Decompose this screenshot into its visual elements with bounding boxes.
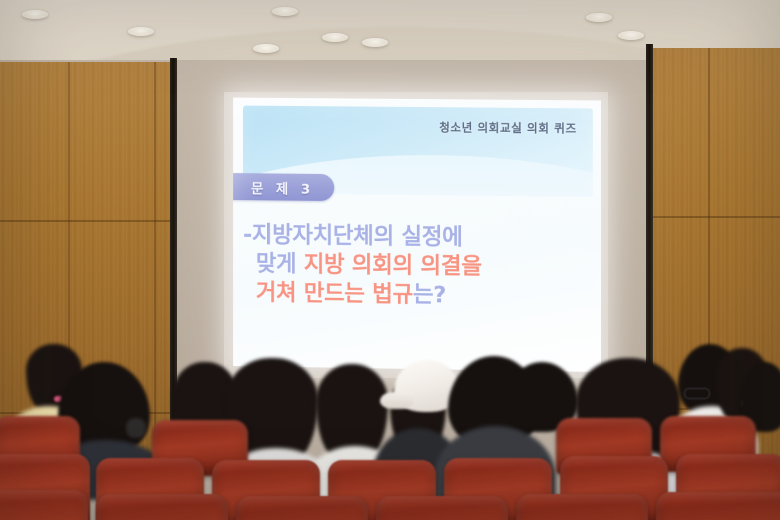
seat [516,494,648,520]
ceiling-downlight-3 [253,44,279,53]
audience-area [0,300,780,520]
ceiling-downlight-8 [618,31,644,40]
person-p6-hair [316,364,388,458]
seat [236,496,368,520]
question-token-1-1: -지방자치단체의 실정에 [243,222,463,251]
question-number-label: 문 제 3 [233,177,314,198]
seat [0,490,88,520]
ceiling-downlight-4 [272,7,298,16]
person-p10-glasses [684,388,710,399]
ceiling-downlight-7 [586,13,612,22]
question-token-2-2: 지방 의회의 의결을 [304,252,482,280]
question-line-1: -지방자치단체의 실정에 [243,221,587,254]
question-number-badge: 문 제 3 [233,173,334,201]
ceiling-downlight-6 [362,38,388,47]
question-line-2: 맞게 지방 의회의 의결을 [243,250,587,284]
ceiling-downlight-1 [22,10,48,19]
question-text-block: -지방자치단체의 실정에맞게 지방 의회의 의결을거쳐 만드는 법규는? [243,221,587,313]
ceiling-downlight-2 [128,27,154,36]
ceiling-downlight-5 [322,33,348,42]
slide-header-title: 청소년 의회교실 의회 퀴즈 [439,119,577,136]
question-token-2-1: 맞게 [256,251,304,278]
seat [96,494,228,520]
seat [376,496,508,520]
auditorium-scene: 청소년 의회교실 의회 퀴즈 문 제 3 -지방자치단체의 실정에맞게 지방 의… [0,0,780,520]
seat [656,492,780,520]
person-p7-cap-brim [380,392,414,409]
person-p2-mask [126,418,146,438]
